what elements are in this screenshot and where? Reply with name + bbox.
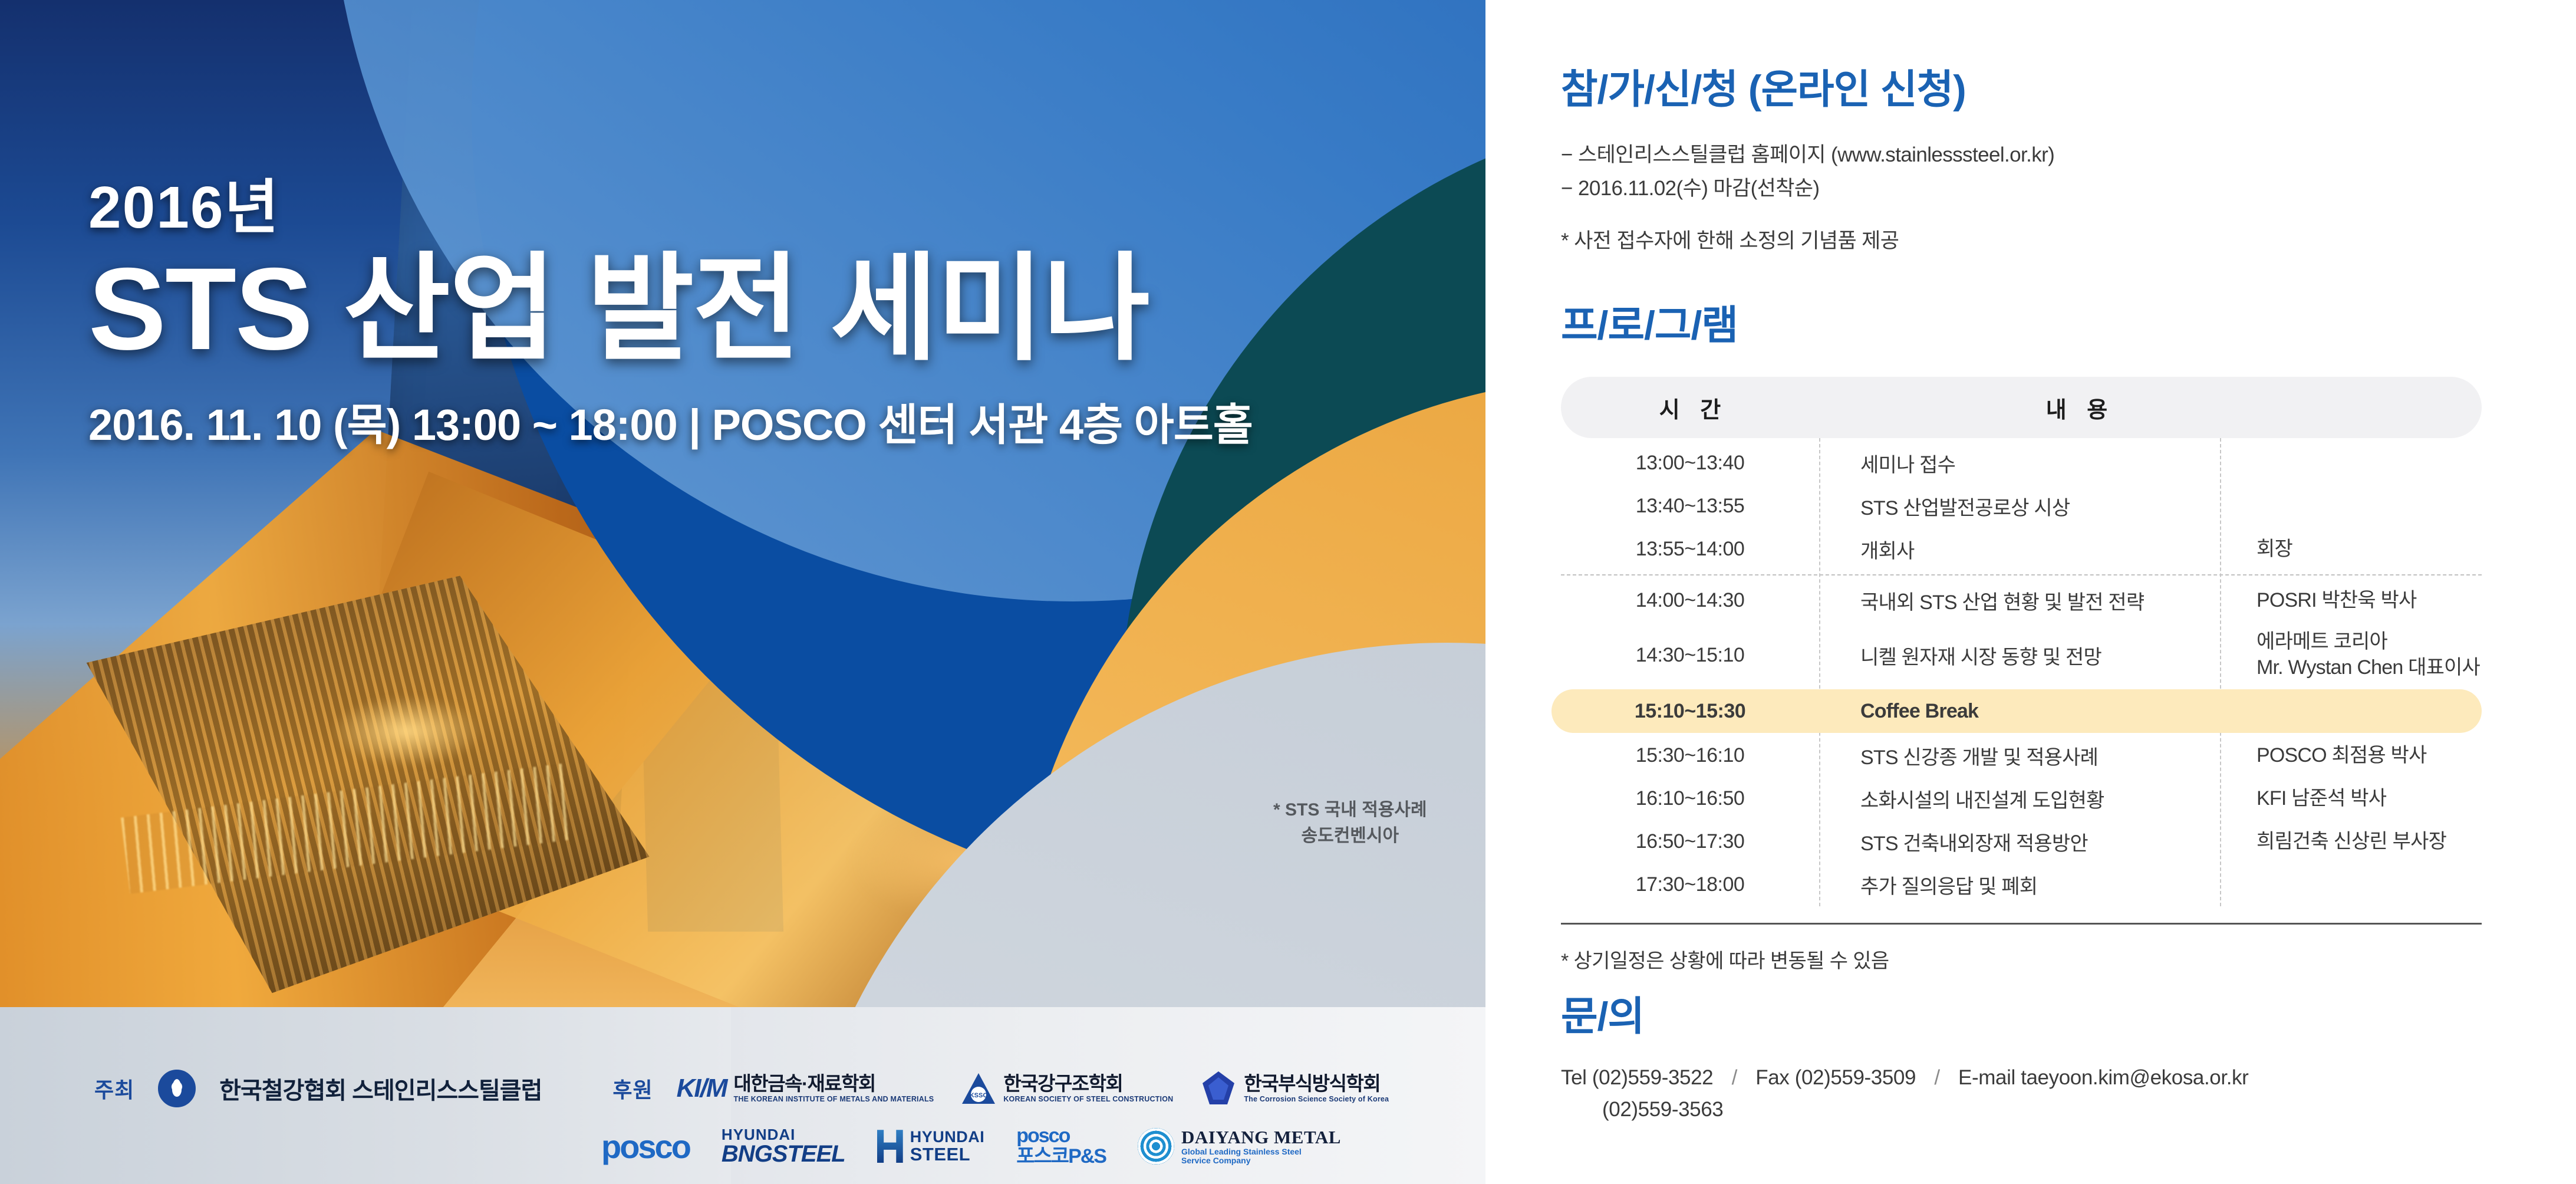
sponsor-label: 후원 bbox=[612, 1073, 653, 1104]
ksa-emblem-icon bbox=[158, 1070, 196, 1107]
row-time: 15:10~15:30 bbox=[1561, 700, 1819, 723]
row-content: STS 산업발전공로상 시상 bbox=[1819, 492, 2220, 521]
application-title: 참/가/신/청 (온라인 신청) bbox=[1561, 57, 2054, 115]
photo-caption-line-2: 송도컨벤시아 bbox=[1273, 823, 1427, 849]
table-row: 14:00~14:30 국내외 STS 산업 현황 및 발전 전략 POSRI … bbox=[1561, 579, 2482, 622]
pns-line-2: 포스코P&S bbox=[1016, 1146, 1106, 1167]
contact-section: 문/의 Tel (02)559-3522 / Fax (02)559-3509 … bbox=[1561, 984, 2248, 1126]
row-time: 14:00~14:30 bbox=[1561, 589, 1819, 612]
row-content: 세미나 접수 bbox=[1819, 449, 2220, 478]
application-line-2: − 2016.11.02(수) 마감(선착순) bbox=[1561, 172, 2054, 206]
table-bottom-rule bbox=[1561, 923, 2482, 925]
event-subtitle: 2016. 11. 10 (목) 13:00 ~ 18:00 | POSCO 센… bbox=[88, 390, 1253, 453]
table-row: 13:55~14:00 개회사 회장 bbox=[1561, 528, 2482, 571]
svg-text:KSSC: KSSC bbox=[970, 1092, 988, 1099]
program-table-header: 시 간 내 용 bbox=[1561, 377, 2482, 438]
fax-value: (02)559-3509 bbox=[1795, 1066, 1916, 1089]
row-time: 13:40~13:55 bbox=[1561, 495, 1819, 518]
logo-hyundai-bng-steel: HYUNDAI BNGSTEEL bbox=[722, 1127, 845, 1166]
poster-root: 2016년 STS 산업 발전 세미나 2016. 11. 10 (목) 13:… bbox=[0, 0, 2576, 1184]
photo-caption: * STS 국내 적용사례 송도컨벤시아 bbox=[1273, 797, 1427, 848]
headline-block: 2016년 STS 산업 발전 세미나 2016. 11. 10 (목) 13:… bbox=[88, 177, 1253, 453]
row-time: 16:50~17:30 bbox=[1561, 830, 1819, 853]
row-content: 추가 질의응답 및 폐회 bbox=[1819, 870, 2220, 899]
kssc-triangle-icon: KSSC bbox=[961, 1071, 996, 1106]
table-row: 16:10~16:50 소화시설의 내진설계 도입현황 KFI 남준석 박사 bbox=[1561, 777, 2482, 820]
sponsor-logo-cssk: 한국부식방식학회 The Corrosion Science Society o… bbox=[1200, 1070, 1389, 1107]
sponsor-logo-kssc: KSSC 한국강구조학회 KOREAN SOCIETY OF STEEL CON… bbox=[961, 1071, 1173, 1106]
info-panel: 참/가/신/청 (온라인 신청) − 스테인리스스틸클럽 홈페이지 (www.s… bbox=[1485, 0, 2576, 1184]
hero-visual-panel: 2016년 STS 산업 발전 세미나 2016. 11. 10 (목) 13:… bbox=[0, 0, 1485, 1184]
application-section: 참/가/신/청 (온라인 신청) − 스테인리스스틸클럽 홈페이지 (www.s… bbox=[1561, 57, 2054, 254]
row-time: 16:10~16:50 bbox=[1561, 787, 1819, 810]
row-divider bbox=[1561, 574, 2482, 575]
host-name: 한국철강협회 스테인리스스틸클럽 bbox=[219, 1071, 542, 1106]
row-time: 13:00~13:40 bbox=[1561, 452, 1819, 475]
hyundai-steel-line-1: HYUNDAI bbox=[910, 1129, 985, 1146]
row-content: 개회사 bbox=[1819, 535, 2220, 564]
row-time: 17:30~18:00 bbox=[1561, 873, 1819, 896]
tel-value: (02)559-3522 bbox=[1592, 1066, 1713, 1089]
sponsor-cssk-ko: 한국부식방식학회 bbox=[1244, 1074, 1389, 1094]
contact-separator-1: / bbox=[1719, 1066, 1750, 1089]
row-time: 14:30~15:10 bbox=[1561, 644, 1819, 667]
daiyang-line-3: Service Company bbox=[1181, 1156, 1341, 1165]
event-year: 2016년 bbox=[88, 177, 1253, 239]
table-row: 17:30~18:00 추가 질의응답 및 폐회 bbox=[1561, 863, 2482, 906]
company-logo-row: posco HYUNDAI BNGSTEEL HYUNDAI STEEL pos… bbox=[601, 1126, 1341, 1167]
bng-line-2: BNGSTEEL bbox=[722, 1142, 845, 1166]
row-content: 국내외 STS 산업 현황 및 발전 전략 bbox=[1819, 586, 2220, 615]
contact-line-primary: Tel (02)559-3522 / Fax (02)559-3509 / E-… bbox=[1561, 1062, 2248, 1094]
sponsor-kssc-ko: 한국강구조학회 bbox=[1003, 1074, 1173, 1094]
row-content: STS 건축내외장재 적용방안 bbox=[1819, 827, 2220, 856]
event-title: STS 산업 발전 세미나 bbox=[88, 244, 1253, 374]
email-label: E-mail bbox=[1958, 1066, 2015, 1089]
application-note: * 사전 접수자에 한해 소정의 기념품 제공 bbox=[1561, 224, 2054, 254]
contact-title: 문/의 bbox=[1561, 984, 2248, 1042]
hyundai-steel-line-2: STEEL bbox=[910, 1145, 985, 1164]
table-row: 15:30~16:10 STS 신강종 개발 및 적용사례 POSCO 최점용 … bbox=[1561, 734, 2482, 777]
photo-caption-line-1: * STS 국내 적용사례 bbox=[1273, 797, 1427, 823]
tel-label: Tel bbox=[1561, 1066, 1587, 1089]
sponsor-kim-ko: 대한금속·재료학회 bbox=[734, 1074, 934, 1094]
bng-line-1: HYUNDAI bbox=[722, 1127, 845, 1142]
row-speaker: 회장 bbox=[2220, 537, 2482, 563]
row-speaker: POSRI 박찬욱 박사 bbox=[2220, 588, 2482, 614]
application-lines: − 스테인리스스틸클럽 홈페이지 (www.stainlesssteel.or.… bbox=[1561, 139, 2054, 205]
fax-label: Fax bbox=[1755, 1066, 1789, 1089]
row-speaker: POSCO 최점용 박사 bbox=[2220, 743, 2482, 769]
contact-line-secondary: (02)559-3563 bbox=[1561, 1094, 2248, 1126]
program-note: * 상기일정은 상황에 따라 변동될 수 있음 bbox=[1561, 945, 2482, 973]
table-row: 13:40~13:55 STS 산업발전공로상 시상 bbox=[1561, 485, 2482, 528]
row-content: Coffee Break bbox=[1819, 700, 2220, 723]
photo-glow-left bbox=[330, 696, 483, 767]
logo-posco-pns: posco 포스코P&S bbox=[1016, 1126, 1106, 1167]
sponsor-kim-en: THE KOREAN INSTITUTE OF METALS AND MATER… bbox=[734, 1096, 934, 1103]
cssk-crystal-icon bbox=[1200, 1070, 1237, 1107]
program-section: 프/로/그/램 시 간 내 용 13:00~13:40 세미나 접수 13:4 bbox=[1561, 292, 2482, 973]
sponsor-kssc-en: KOREAN SOCIETY OF STEEL CONSTRUCTION bbox=[1003, 1096, 1173, 1103]
program-table: 시 간 내 용 13:00~13:40 세미나 접수 13:40~13:55 S… bbox=[1561, 377, 2482, 973]
kim-mark-icon: KI/M bbox=[677, 1074, 727, 1103]
table-row: 16:50~17:30 STS 건축내외장재 적용방안 희림건축 신상린 부사장 bbox=[1561, 820, 2482, 863]
row-time: 15:30~16:10 bbox=[1561, 744, 1819, 767]
row-speaker: 에라메트 코리아 Mr. Wystan Chen 대표이사 bbox=[2220, 629, 2482, 680]
program-title: 프/로/그/램 bbox=[1561, 292, 2482, 351]
daiyang-line-1: DAIYANG METAL bbox=[1181, 1127, 1341, 1147]
column-header-content: 내 용 bbox=[1819, 392, 2482, 424]
row-speaker: 희림건축 신상린 부사장 bbox=[2220, 829, 2482, 855]
posco-wordmark: posco bbox=[601, 1127, 690, 1166]
pns-line-1: posco bbox=[1016, 1126, 1106, 1147]
table-row: 13:00~13:40 세미나 접수 bbox=[1561, 442, 2482, 485]
logo-daiyang-metal: DAIYANG METAL Global Leading Stainless S… bbox=[1138, 1127, 1341, 1166]
logo-posco: posco bbox=[601, 1127, 690, 1166]
table-row: 14:30~15:10 니켈 원자재 시장 동향 및 전망 에라메트 코리아 M… bbox=[1561, 622, 2482, 688]
row-content: 소화시설의 내진설계 도입현황 bbox=[1819, 784, 2220, 813]
contact-separator-2: / bbox=[1921, 1066, 1952, 1089]
table-row-coffee-break: 15:10~15:30 Coffee Break bbox=[1561, 688, 2482, 734]
logo-hyundai-steel: HYUNDAI STEEL bbox=[877, 1129, 985, 1164]
organizer-row: 주최 한국철강협회 스테인리스스틸클럽 후원 KI/M 대한금속·재료학회 TH… bbox=[94, 1070, 1389, 1107]
sponsor-cssk-en: The Corrosion Science Society of Korea bbox=[1244, 1096, 1389, 1103]
email-value[interactable]: taeyoon.kim@ekosa.or.kr bbox=[2021, 1066, 2248, 1089]
program-table-body: 13:00~13:40 세미나 접수 13:40~13:55 STS 산업발전공… bbox=[1561, 438, 2482, 906]
application-line-1: − 스테인리스스틸클럽 홈페이지 (www.stainlesssteel.or.… bbox=[1561, 139, 2054, 172]
contact-lines: Tel (02)559-3522 / Fax (02)559-3509 / E-… bbox=[1561, 1062, 2248, 1126]
row-speaker: KFI 남준석 박사 bbox=[2220, 786, 2482, 812]
row-content: 니켈 원자재 시장 동향 및 전망 bbox=[1819, 641, 2220, 670]
sponsor-logo-group: KI/M 대한금속·재료학회 THE KOREAN INSTITUTE OF M… bbox=[677, 1070, 1389, 1107]
column-header-time: 시 간 bbox=[1561, 392, 1819, 424]
row-content: STS 신강종 개발 및 적용사례 bbox=[1819, 741, 2220, 770]
daiyang-line-2: Global Leading Stainless Steel bbox=[1181, 1147, 1341, 1156]
sponsor-logo-kim: KI/M 대한금속·재료학회 THE KOREAN INSTITUTE OF M… bbox=[677, 1074, 934, 1104]
daiyang-target-icon bbox=[1138, 1128, 1174, 1165]
hyundai-h-icon bbox=[877, 1130, 903, 1163]
row-time: 13:55~14:00 bbox=[1561, 538, 1819, 561]
host-label: 주최 bbox=[94, 1073, 134, 1104]
